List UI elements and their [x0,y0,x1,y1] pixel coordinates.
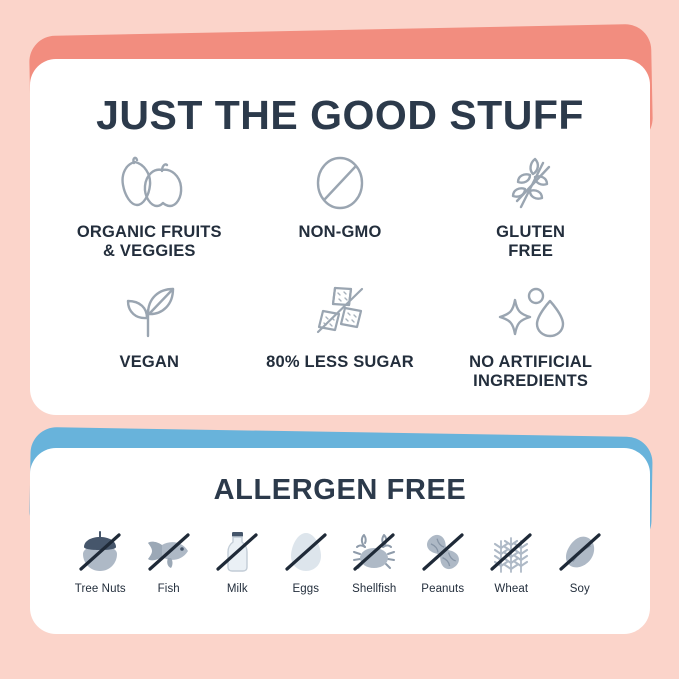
milk-bottle-icon [210,519,264,577]
feature-organic-fruits: ORGANIC FRUITS & VEGGIES [54,152,245,278]
allergen-label: Milk [227,583,248,595]
good-stuff-card: JUST THE GOOD STUFF ORGANIC FRUITS & VEG… [30,59,650,415]
allergen-peanuts: Peanuts [409,519,478,595]
allergen-label: Soy [570,583,590,595]
sugar-cubes-slash-icon [305,282,375,344]
feature-non-gmo: NON-GMO [245,152,436,278]
feature-less-sugar: 80% LESS SUGAR [245,282,436,408]
soybean-icon [553,519,607,577]
allergen-wheat: Wheat [477,519,546,595]
allergen-free-card: ALLERGEN FREE Tree Nuts [30,448,650,634]
allergen-label: Wheat [494,583,528,595]
egg-icon [279,519,333,577]
wheat-slash-icon [499,152,563,214]
feature-label: 80% LESS SUGAR [266,353,414,372]
crab-icon [347,519,401,577]
feature-label: NO ARTIFICIAL INGREDIENTS [469,353,592,391]
allergen-label: Tree Nuts [75,583,126,595]
allergen-soy: Soy [546,519,615,595]
feature-no-artificial: NO ARTIFICIAL INGREDIENTS [435,282,626,408]
feature-gluten-free: GLUTEN FREE [435,152,626,278]
sparkle-droplet-icon [495,282,567,344]
good-stuff-title: JUST THE GOOD STUFF [30,59,650,136]
peanut-icon [416,519,470,577]
pear-apple-icon [112,152,186,214]
feature-label: VEGAN [119,353,179,372]
acorn-icon [73,519,127,577]
allergen-label: Eggs [292,583,319,595]
allergen-free-title: ALLERGEN FREE [30,448,650,505]
allergen-shellfish: Shellfish [340,519,409,595]
product-badge-graphic: JUST THE GOOD STUFF ORGANIC FRUITS & VEG… [0,0,679,679]
feature-label: NON-GMO [299,223,382,242]
allergen-row: Tree Nuts Fish [30,505,650,595]
fish-icon [142,519,196,577]
leaf-sprout-icon [117,282,181,344]
allergen-milk: Milk [203,519,272,595]
allergen-label: Shellfish [352,583,396,595]
circle-slash-icon [311,152,369,214]
allergen-eggs: Eggs [272,519,341,595]
allergen-label: Peanuts [421,583,464,595]
feature-label: ORGANIC FRUITS & VEGGIES [77,223,222,261]
allergen-fish: Fish [135,519,204,595]
feature-label: GLUTEN FREE [496,223,565,261]
allergen-label: Fish [158,583,180,595]
wheat-stalks-icon [484,519,538,577]
good-stuff-grid: ORGANIC FRUITS & VEGGIES NON-GMO [30,152,650,408]
allergen-tree-nuts: Tree Nuts [66,519,135,595]
feature-vegan: VEGAN [54,282,245,408]
